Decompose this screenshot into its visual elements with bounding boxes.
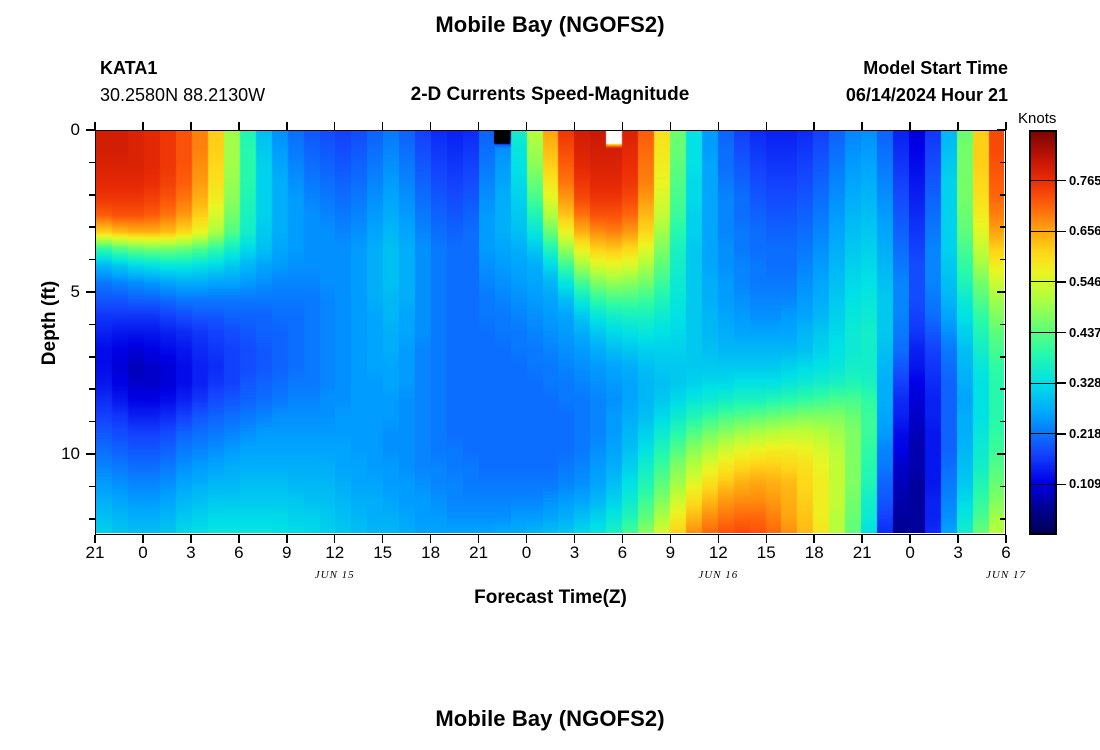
bottom-page-title: Mobile Bay (NGOFS2)	[0, 706, 1100, 732]
colorbar-tick-label: 0.546875	[1069, 275, 1100, 288]
x-axis-tick	[526, 535, 528, 543]
x-axis-tick	[957, 535, 959, 543]
x-axis-tick	[142, 535, 144, 543]
y-axis-minor-tick	[89, 356, 95, 358]
colorbar-inner-tick	[1029, 383, 1057, 384]
x-axis-tick-label: 0	[890, 544, 930, 561]
colorbar-tick	[1057, 281, 1066, 283]
x-axis-tick	[718, 535, 720, 543]
y-axis-tick-right	[1000, 226, 1006, 228]
x-axis-tick-top	[1005, 122, 1007, 130]
x-axis-tick-top	[190, 122, 192, 130]
x-axis-tick-top	[670, 122, 672, 130]
x-axis-tick	[286, 535, 288, 543]
x-axis-tick	[238, 535, 240, 543]
x-axis-ticks-top	[95, 122, 1006, 130]
x-axis-tick-label: 3	[171, 544, 211, 561]
x-axis-tick-label: 0	[123, 544, 163, 561]
colorbar-inner-tick	[1029, 484, 1057, 485]
x-axis-tick	[861, 535, 863, 543]
page-title: Mobile Bay (NGOFS2)	[0, 12, 1100, 38]
colorbar-title: Knots	[1018, 110, 1056, 127]
x-axis-tick	[813, 535, 815, 543]
y-axis-minor-tick	[89, 388, 95, 390]
y-axis-minor-tick	[89, 162, 95, 164]
y-axis-tick-label: 0	[52, 121, 80, 138]
x-axis-tick	[190, 535, 192, 543]
x-axis-tick-top	[622, 122, 624, 130]
x-axis-tick-top	[286, 122, 288, 130]
colorbar-inner-tick	[1029, 332, 1057, 333]
x-axis-tick	[574, 535, 576, 543]
x-axis-tick-top	[430, 122, 432, 130]
y-axis-tick-right	[1000, 388, 1006, 390]
y-axis-tick-right	[1000, 194, 1006, 196]
x-axis-tick	[382, 535, 384, 543]
x-axis-tick-top	[813, 122, 815, 130]
colorbar-tick-label: 0.765625	[1069, 174, 1100, 187]
colorbar-tick-label: 0.328125	[1069, 376, 1100, 389]
heatmap-plot-area	[95, 130, 1006, 535]
x-axis-tick-label: 15	[746, 544, 786, 561]
colorbar-tick	[1057, 484, 1066, 486]
x-axis-tick	[766, 535, 768, 543]
x-axis-tick-top	[909, 122, 911, 130]
y-axis-minor-tick	[89, 194, 95, 196]
colorbar-tick-label: 0.109375	[1069, 477, 1100, 490]
x-axis-tick-label: 21	[459, 544, 499, 561]
y-axis-tick-right	[1000, 421, 1006, 423]
y-axis-minor-tick	[89, 324, 95, 326]
colorbar-tick	[1057, 231, 1066, 233]
model-start-time-label: Model Start Time	[718, 58, 1008, 79]
x-axis-tick-top	[526, 122, 528, 130]
y-axis-tick-label: 10	[52, 445, 80, 462]
y-axis-major-tick	[86, 453, 95, 455]
x-axis-tick-label: 6	[986, 544, 1026, 561]
x-axis-tick-top	[766, 122, 768, 130]
x-axis-tick-top	[861, 122, 863, 130]
y-axis-tick-right	[1000, 324, 1006, 326]
x-axis-tick-label: 18	[794, 544, 834, 561]
colorbar-inner-tick	[1029, 180, 1057, 181]
heatmap-canvas	[96, 131, 1004, 533]
colorbar-tick	[1057, 332, 1066, 334]
x-axis-tick-label: 21	[842, 544, 882, 561]
colorbar-inner-tick	[1029, 433, 1057, 434]
x-axis-day-label: JUN 15	[290, 569, 380, 581]
x-axis-tick-top	[957, 122, 959, 130]
y-axis-minor-tick	[89, 259, 95, 261]
x-axis-tick	[478, 535, 480, 543]
x-axis-title: Forecast Time(Z)	[95, 587, 1006, 609]
colorbar-inner-tick	[1029, 281, 1057, 282]
x-axis-tick-top	[142, 122, 144, 130]
x-axis-tick-label: 12	[315, 544, 355, 561]
colorbar-tick-label: 0.65625	[1069, 224, 1100, 237]
y-axis-tick-right	[1000, 259, 1006, 261]
y-axis-tick-right	[1000, 518, 1006, 520]
y-axis-major-tick	[86, 291, 95, 293]
x-axis-tick	[622, 535, 624, 543]
x-axis-tick-top	[94, 122, 96, 130]
x-axis-tick	[430, 535, 432, 543]
x-axis-tick-label: 21	[75, 544, 115, 561]
x-axis-tick-top	[478, 122, 480, 130]
x-axis-day-label: JUN 17	[961, 569, 1051, 581]
x-axis-tick-label: 3	[554, 544, 594, 561]
x-axis-tick	[1005, 535, 1007, 543]
colorbar-tick	[1057, 180, 1066, 182]
x-axis-tick-label: 6	[219, 544, 259, 561]
x-axis-tick-top	[718, 122, 720, 130]
colorbar-tick	[1057, 433, 1066, 435]
y-axis-minor-tick	[89, 518, 95, 520]
colorbar	[1029, 130, 1057, 535]
x-axis-tick-label: 9	[267, 544, 307, 561]
x-axis-tick-top	[574, 122, 576, 130]
x-axis-day-label: JUN 16	[673, 569, 763, 581]
colorbar-inner-tick	[1029, 231, 1057, 232]
x-axis-tick	[94, 535, 96, 543]
x-axis-tick-top	[334, 122, 336, 130]
x-axis-tick	[670, 535, 672, 543]
y-axis-tick-right	[1000, 486, 1006, 488]
x-axis-tick-top	[382, 122, 384, 130]
y-axis-tick-right	[1000, 356, 1006, 358]
x-axis-tick-label: 15	[363, 544, 403, 561]
x-axis-tick-label: 12	[698, 544, 738, 561]
x-axis-tick-label: 3	[938, 544, 978, 561]
y-axis-minor-tick	[89, 226, 95, 228]
x-axis-tick	[909, 535, 911, 543]
model-start-time-value: 06/14/2024 Hour 21	[718, 85, 1008, 106]
x-axis-ticks: 21036912151821036912151821036JUN 15JUN 1…	[95, 535, 1006, 585]
colorbar-tick	[1057, 382, 1066, 384]
station-id-label: KATA1	[100, 58, 157, 79]
x-axis-tick-label: 18	[411, 544, 451, 561]
y-axis-tick-label: 5	[52, 283, 80, 300]
y-axis-tick-right	[997, 291, 1006, 293]
x-axis-tick-label: 0	[507, 544, 547, 561]
y-axis-ticks: 0510	[0, 130, 95, 535]
x-axis-tick-top	[238, 122, 240, 130]
y-axis-minor-tick	[89, 421, 95, 423]
colorbar-tick-label: 0.4375	[1069, 326, 1100, 339]
x-axis-tick-label: 6	[602, 544, 642, 561]
y-axis-tick-right	[997, 453, 1006, 455]
y-axis-tick-right	[1000, 162, 1006, 164]
colorbar-tick-label: 0.21875	[1069, 427, 1100, 440]
x-axis-tick	[334, 535, 336, 543]
y-axis-minor-tick	[89, 486, 95, 488]
x-axis-tick-label: 9	[650, 544, 690, 561]
